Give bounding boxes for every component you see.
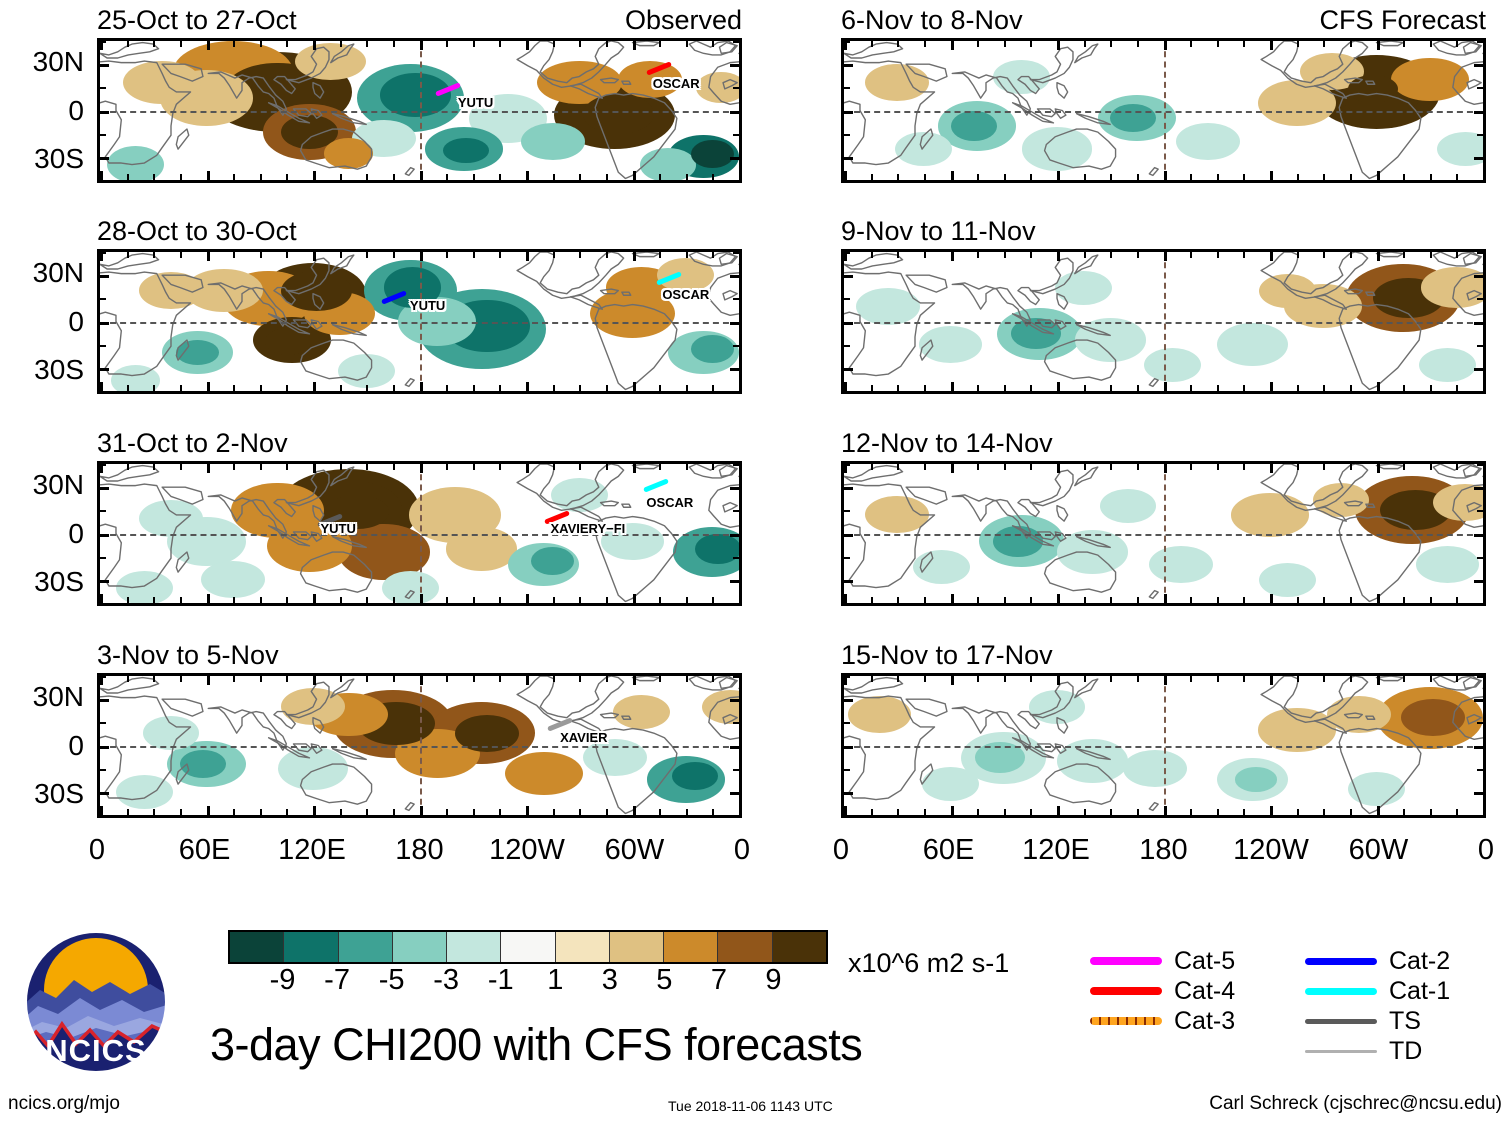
y-axis-label-30N: 30N <box>0 259 84 287</box>
y-tick <box>1474 64 1483 67</box>
storm-label-oscar: OSCAR <box>653 76 700 91</box>
x-tick <box>1483 382 1486 391</box>
y-axis-label-30N: 30N <box>0 48 84 76</box>
x-tick <box>366 252 368 258</box>
x-tick <box>1270 171 1273 180</box>
map-obs-2[interactable]: YUTUOSCAR <box>97 249 742 394</box>
x-tick <box>553 597 555 603</box>
x-tick <box>977 174 979 180</box>
x-tick <box>897 597 899 603</box>
x-tick <box>844 171 847 180</box>
x-tick <box>659 676 661 682</box>
x-tick <box>1084 809 1086 815</box>
y-tick <box>1477 769 1483 771</box>
x-tick <box>1377 252 1380 261</box>
x-tick <box>526 382 529 391</box>
x-tick <box>951 41 954 50</box>
y-tick <box>1474 487 1483 490</box>
x-tick <box>233 809 235 815</box>
dateline-180 <box>1164 676 1166 815</box>
x-tick <box>712 676 714 682</box>
y-tick <box>844 510 850 512</box>
x-tick <box>366 174 368 180</box>
x-tick <box>153 464 155 470</box>
x-tick <box>712 174 714 180</box>
x-tick <box>1137 385 1139 391</box>
legend-swatch-cat-3 <box>1090 1017 1162 1025</box>
colorbar-tick--7: -7 <box>324 964 350 996</box>
x-tick <box>100 806 103 815</box>
x-tick <box>1164 171 1167 180</box>
y-tick <box>733 391 739 393</box>
x-tick <box>1403 174 1405 180</box>
x-tick <box>977 385 979 391</box>
colorbar-swatches <box>228 930 828 964</box>
x-axis-label-0: 0 <box>687 836 797 865</box>
y-tick <box>1474 368 1483 371</box>
x-tick <box>1350 252 1352 258</box>
x-tick <box>1057 594 1060 603</box>
x-tick <box>1456 41 1458 47</box>
map-field-obs-4: XAVIER <box>100 676 739 815</box>
colorbar-swatch-3 <box>393 932 447 962</box>
x-tick <box>313 41 316 50</box>
y-tick <box>100 769 106 771</box>
x-tick <box>659 174 661 180</box>
x-tick <box>977 676 979 682</box>
x-tick <box>1217 597 1219 603</box>
x-tick <box>659 385 661 391</box>
x-tick <box>1483 676 1486 685</box>
y-tick <box>1477 391 1483 393</box>
dateline-180 <box>1164 252 1166 391</box>
map-fcst-3[interactable] <box>841 461 1486 606</box>
y-tick <box>100 41 106 43</box>
x-tick <box>1084 174 1086 180</box>
x-tick <box>606 464 608 470</box>
colorbar-swatch-8 <box>664 932 718 962</box>
x-tick <box>1456 464 1458 470</box>
y-tick <box>733 180 739 182</box>
x-tick <box>1164 464 1167 473</box>
storm-label-yutu: YUTU <box>320 521 355 536</box>
y-tick <box>730 699 739 702</box>
x-tick <box>499 41 501 47</box>
x-tick <box>1377 676 1380 685</box>
x-tick <box>897 809 899 815</box>
x-tick <box>712 464 714 470</box>
dateline-180 <box>420 252 422 391</box>
y-tick <box>733 510 739 512</box>
storm-label-xavier: XAVIER <box>560 730 607 745</box>
x-tick <box>233 252 235 258</box>
x-tick <box>1430 597 1432 603</box>
legend-swatch-cat-2 <box>1305 958 1377 965</box>
x-tick <box>686 597 688 603</box>
x-tick <box>1430 174 1432 180</box>
x-tick <box>686 385 688 391</box>
x-tick <box>1110 597 1112 603</box>
x-tick <box>579 597 581 603</box>
x-tick <box>1030 464 1032 470</box>
y-tick <box>844 792 853 795</box>
y-tick <box>100 792 109 795</box>
x-tick <box>1377 806 1380 815</box>
x-tick <box>340 809 342 815</box>
legend-label: TS <box>1389 1009 1421 1034</box>
x-tick <box>1243 41 1245 47</box>
y-tick <box>730 792 739 795</box>
y-tick <box>1474 792 1483 795</box>
y-axis-label-30S: 30S <box>0 356 84 384</box>
x-tick <box>180 174 182 180</box>
x-tick <box>420 252 423 261</box>
y-tick <box>733 676 739 678</box>
x-tick <box>897 41 899 47</box>
x-tick <box>1004 597 1006 603</box>
x-axis-label-120E: 120E <box>1001 836 1111 865</box>
x-tick <box>1164 41 1167 50</box>
y-tick <box>844 557 850 559</box>
x-tick <box>260 41 262 47</box>
footer-website[interactable]: ncics.org/mjo <box>8 1093 120 1115</box>
x-tick <box>1004 41 1006 47</box>
x-tick <box>1217 252 1219 258</box>
x-tick <box>897 464 899 470</box>
colorbar-tick--9: -9 <box>270 964 296 996</box>
x-tick <box>127 41 129 47</box>
map-obs-3[interactable]: YUTUOSCARXAVIERY−FI <box>97 461 742 606</box>
map-fcst-2[interactable] <box>841 249 1486 394</box>
y-tick <box>1474 157 1483 160</box>
y-tick <box>1477 815 1483 817</box>
x-tick <box>871 464 873 470</box>
x-tick <box>1030 174 1032 180</box>
map-field-fcst-2 <box>844 252 1483 391</box>
x-tick <box>207 252 210 261</box>
storm-label-oscar: OSCAR <box>662 287 709 302</box>
x-tick <box>420 594 423 603</box>
x-tick <box>1057 171 1060 180</box>
column-header-right: CFS Forecast <box>841 7 1486 34</box>
y-tick <box>1477 722 1483 724</box>
x-tick <box>1456 252 1458 258</box>
x-tick <box>100 382 103 391</box>
x-tick <box>499 809 501 815</box>
x-tick <box>526 676 529 685</box>
x-tick <box>579 809 581 815</box>
x-tick <box>1004 464 1006 470</box>
y-tick <box>100 580 109 583</box>
x-tick <box>473 252 475 258</box>
x-tick <box>1456 809 1458 815</box>
x-tick <box>446 385 448 391</box>
x-tick <box>446 174 448 180</box>
storm-label-oscar: OSCAR <box>646 495 693 510</box>
y-axis-label-30S: 30S <box>0 780 84 808</box>
y-tick <box>1474 699 1483 702</box>
panel-title-obs-4: 3-Nov to 5-Nov <box>97 642 279 669</box>
x-tick <box>553 174 555 180</box>
x-tick <box>207 676 210 685</box>
x-tick <box>473 597 475 603</box>
y-tick <box>844 815 850 817</box>
x-tick <box>1004 809 1006 815</box>
x-tick <box>1297 676 1299 682</box>
x-tick <box>739 171 742 180</box>
y-tick <box>100 134 106 136</box>
x-tick <box>633 594 636 603</box>
x-tick <box>233 597 235 603</box>
x-tick <box>1057 252 1060 261</box>
x-tick <box>127 597 129 603</box>
panel-title-fcst-3: 12-Nov to 14-Nov <box>841 430 1053 457</box>
x-tick <box>844 382 847 391</box>
x-tick <box>233 676 235 682</box>
x-tick <box>739 382 742 391</box>
x-tick <box>1430 676 1432 682</box>
x-tick <box>1057 41 1060 50</box>
map-obs-4[interactable]: XAVIER <box>97 673 742 818</box>
x-tick <box>340 464 342 470</box>
y-tick <box>100 676 106 678</box>
x-tick <box>526 41 529 50</box>
y-tick <box>1474 580 1483 583</box>
y-tick <box>730 275 739 278</box>
x-tick <box>526 464 529 473</box>
x-tick <box>473 464 475 470</box>
legend-swatch-cat-5 <box>1090 957 1162 965</box>
x-tick <box>1403 676 1405 682</box>
colorbar-tick-3: 3 <box>602 964 618 996</box>
x-tick <box>1164 252 1167 261</box>
x-tick <box>977 597 979 603</box>
x-tick <box>633 676 636 685</box>
x-tick <box>739 676 742 685</box>
x-tick <box>1030 385 1032 391</box>
x-tick <box>127 676 129 682</box>
x-tick <box>1243 385 1245 391</box>
y-tick <box>100 722 106 724</box>
x-tick <box>1030 809 1032 815</box>
x-tick <box>233 385 235 391</box>
x-tick <box>977 252 979 258</box>
x-tick <box>1483 252 1486 261</box>
x-tick <box>526 806 529 815</box>
x-tick <box>1323 464 1325 470</box>
x-tick <box>897 252 899 258</box>
x-tick <box>420 382 423 391</box>
x-tick <box>1350 464 1352 470</box>
x-tick <box>1217 174 1219 180</box>
x-tick <box>844 806 847 815</box>
x-tick <box>1483 171 1486 180</box>
x-tick <box>633 806 636 815</box>
x-axis-label-120E: 120E <box>257 836 367 865</box>
x-tick <box>553 464 555 470</box>
x-tick <box>1430 385 1432 391</box>
x-tick <box>1110 809 1112 815</box>
x-tick <box>1243 597 1245 603</box>
y-tick <box>844 676 850 678</box>
x-tick <box>100 594 103 603</box>
legend-item-ts: TS <box>1305 1006 1450 1036</box>
x-tick <box>366 41 368 47</box>
x-axis-label-120W: 120W <box>1216 836 1326 865</box>
y-tick <box>100 464 106 466</box>
x-tick <box>393 252 395 258</box>
x-axis-label-60E: 60E <box>150 836 260 865</box>
x-tick <box>153 385 155 391</box>
y-tick <box>733 557 739 559</box>
x-tick <box>739 41 742 50</box>
x-tick <box>366 597 368 603</box>
y-tick <box>100 391 106 393</box>
x-tick <box>712 597 714 603</box>
x-tick <box>633 252 636 261</box>
x-tick <box>1057 806 1060 815</box>
x-tick <box>1004 676 1006 682</box>
x-tick <box>1164 594 1167 603</box>
x-tick <box>393 809 395 815</box>
y-tick <box>100 252 106 254</box>
y-tick <box>1477 87 1483 89</box>
colorbar-swatch-6 <box>556 932 610 962</box>
x-tick <box>1243 809 1245 815</box>
x-tick <box>1430 252 1432 258</box>
x-tick <box>526 594 529 603</box>
y-tick <box>844 464 850 466</box>
x-tick <box>100 171 103 180</box>
x-tick <box>739 464 742 473</box>
colorbar-tick-5: 5 <box>656 964 672 996</box>
legend-item-cat-1: Cat-1 <box>1305 976 1450 1006</box>
x-tick <box>499 464 501 470</box>
x-tick <box>1004 174 1006 180</box>
legend-label: Cat-4 <box>1174 979 1235 1004</box>
legend-swatch-td <box>1305 1050 1377 1053</box>
x-tick <box>924 385 926 391</box>
main-title: 3-day CHI200 with CFS forecasts <box>210 1022 862 1068</box>
y-tick <box>730 157 739 160</box>
y-tick <box>844 157 853 160</box>
x-tick <box>340 41 342 47</box>
x-tick <box>579 252 581 258</box>
x-tick <box>1350 41 1352 47</box>
y-tick <box>733 815 739 817</box>
map-fcst-4[interactable] <box>841 673 1486 818</box>
map-fcst-1[interactable] <box>841 38 1486 183</box>
x-tick <box>871 385 873 391</box>
x-tick <box>1217 809 1219 815</box>
x-tick <box>499 174 501 180</box>
x-tick <box>606 252 608 258</box>
x-tick <box>1057 676 1060 685</box>
x-axis-label-180: 180 <box>1109 836 1219 865</box>
y-tick <box>1477 557 1483 559</box>
x-tick <box>207 41 210 50</box>
x-tick <box>286 676 288 682</box>
y-tick <box>844 368 853 371</box>
dateline-180 <box>1164 41 1166 180</box>
legend-label: Cat-5 <box>1174 949 1235 974</box>
x-axis-label-60W: 60W <box>580 836 690 865</box>
x-tick <box>951 252 954 261</box>
x-tick <box>1270 41 1273 50</box>
colorbar-swatch-10 <box>773 932 826 962</box>
legend-item-cat-4: Cat-4 <box>1090 976 1235 1006</box>
x-tick <box>207 594 210 603</box>
x-tick <box>446 597 448 603</box>
x-tick <box>659 809 661 815</box>
x-tick <box>1243 174 1245 180</box>
colorbar-tick--3: -3 <box>433 964 459 996</box>
x-tick <box>1403 597 1405 603</box>
x-tick <box>366 809 368 815</box>
x-tick <box>1297 174 1299 180</box>
x-tick <box>1137 809 1139 815</box>
x-tick <box>659 41 661 47</box>
x-tick <box>579 676 581 682</box>
y-tick <box>1477 252 1483 254</box>
x-tick <box>286 464 288 470</box>
x-tick <box>871 41 873 47</box>
ncics-logo: NCICS <box>22 928 170 1076</box>
x-tick <box>1297 385 1299 391</box>
x-tick <box>1084 385 1086 391</box>
y-tick <box>730 580 739 583</box>
y-tick <box>1477 180 1483 182</box>
x-tick <box>579 464 581 470</box>
x-tick <box>286 809 288 815</box>
y-axis-label-30S: 30S <box>0 145 84 173</box>
x-tick <box>1030 252 1032 258</box>
y-tick <box>844 345 850 347</box>
legend-label: TD <box>1389 1039 1422 1064</box>
x-tick <box>553 676 555 682</box>
x-tick <box>1403 41 1405 47</box>
x-tick <box>712 385 714 391</box>
x-tick <box>553 809 555 815</box>
x-axis-label-0: 0 <box>42 836 152 865</box>
y-tick <box>1474 275 1483 278</box>
x-tick <box>1137 174 1139 180</box>
x-tick <box>951 382 954 391</box>
x-tick <box>686 809 688 815</box>
x-tick <box>340 252 342 258</box>
map-field-fcst-1 <box>844 41 1483 180</box>
x-tick <box>180 597 182 603</box>
colorbar-swatch-7 <box>610 932 664 962</box>
x-tick <box>1270 594 1273 603</box>
y-tick <box>844 487 853 490</box>
y-tick <box>844 580 853 583</box>
x-tick <box>712 41 714 47</box>
x-tick <box>260 252 262 258</box>
x-tick <box>897 676 899 682</box>
x-tick <box>977 464 979 470</box>
x-tick <box>127 385 129 391</box>
x-tick <box>739 594 742 603</box>
x-tick <box>579 174 581 180</box>
y-tick <box>100 87 106 89</box>
x-tick <box>1297 464 1299 470</box>
y-tick <box>733 769 739 771</box>
x-tick <box>1270 676 1273 685</box>
x-tick <box>260 174 262 180</box>
x-tick <box>1350 385 1352 391</box>
map-obs-1[interactable]: YUTUOSCAR <box>97 38 742 183</box>
